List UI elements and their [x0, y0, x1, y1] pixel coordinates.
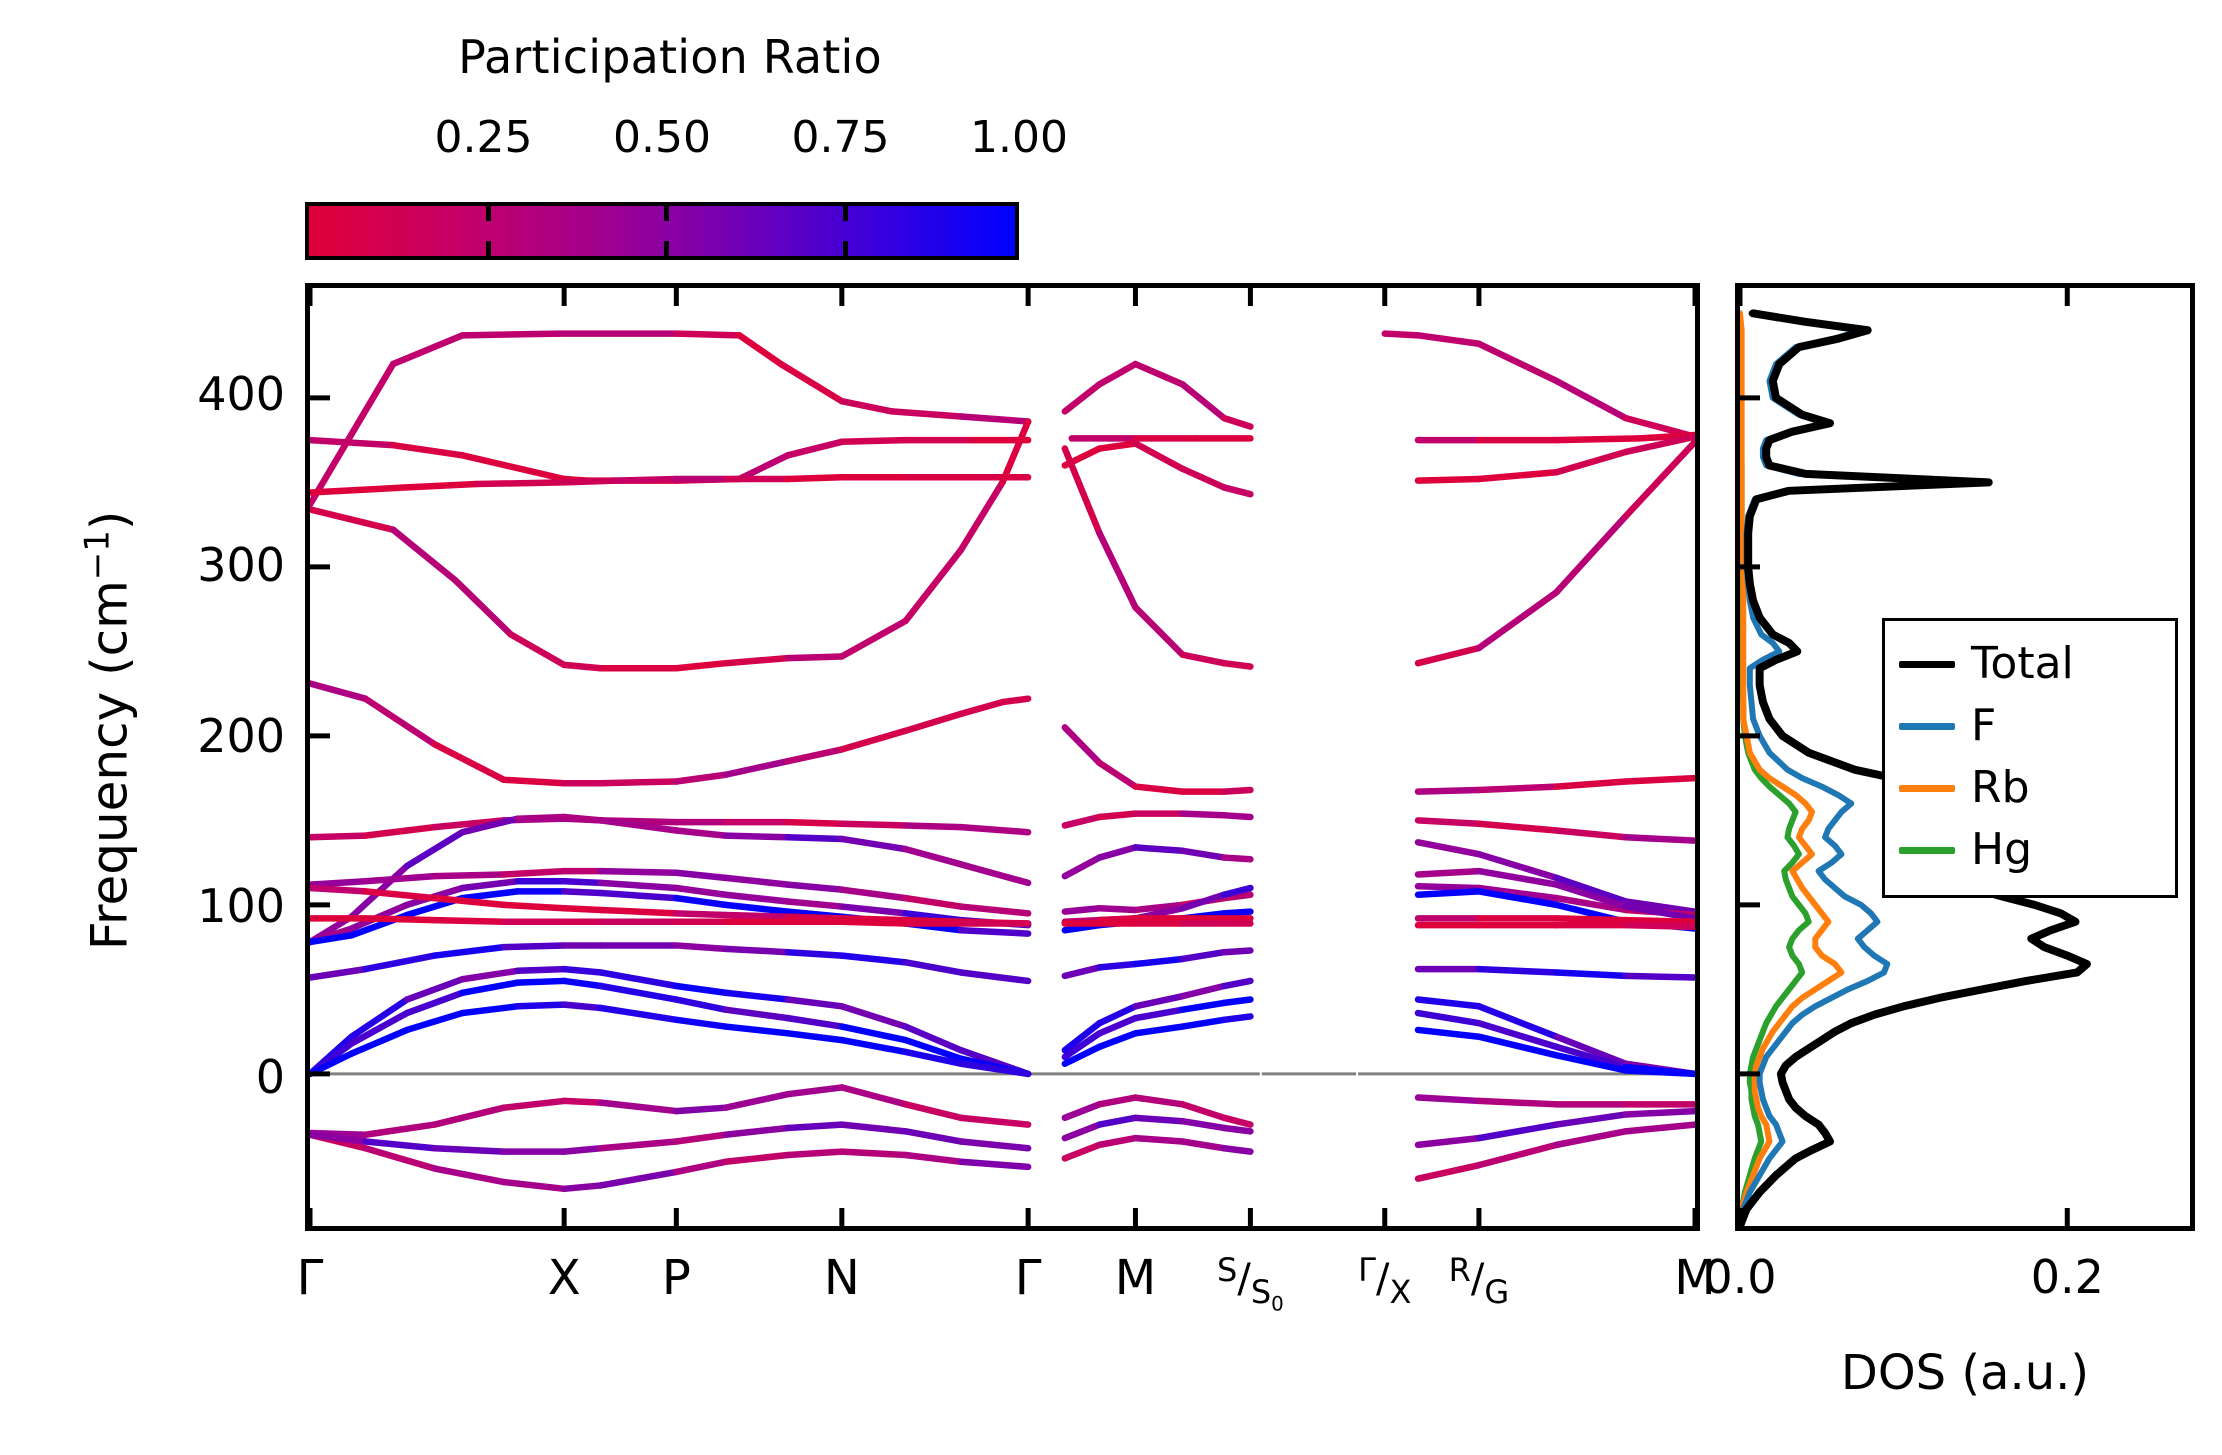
band-segment — [676, 663, 725, 668]
band-segment — [462, 455, 564, 479]
band-segment — [455, 580, 510, 634]
band-x-tick-2: P — [662, 1250, 691, 1306]
band-segment — [1557, 452, 1626, 472]
band-segment — [1183, 1104, 1225, 1118]
band-segment — [393, 335, 462, 364]
band-segment — [601, 986, 676, 1000]
y-axis-tick-labels: 0100200300400 — [110, 283, 285, 1231]
band-segment — [310, 836, 365, 838]
band-segment — [842, 1027, 906, 1041]
band-segment — [906, 825, 961, 827]
band-segment — [601, 910, 676, 913]
band-segment — [1557, 972, 1626, 975]
band-segment — [504, 1182, 564, 1189]
band-segment — [1183, 1020, 1225, 1027]
band-segment — [601, 972, 676, 986]
band-segment — [1135, 787, 1182, 792]
band-segment — [518, 981, 564, 983]
colorbar-tick-labels: 0.250.500.751.00 — [300, 112, 1040, 172]
band-segment — [1418, 886, 1479, 888]
band-segment — [961, 1118, 1028, 1125]
band-lines — [310, 334, 1695, 1189]
band-segment — [906, 550, 961, 621]
band-segment — [1224, 1016, 1250, 1019]
band-segment — [310, 969, 365, 977]
band-segment — [564, 665, 601, 668]
band-segment — [1418, 842, 1479, 854]
band-segment — [842, 401, 892, 411]
band-segment — [676, 898, 725, 905]
band-segment — [842, 621, 906, 656]
band-segment — [1224, 418, 1250, 426]
band-segment — [1065, 858, 1100, 877]
band-segment — [726, 949, 788, 952]
band-segment — [788, 477, 842, 479]
band-segment — [504, 871, 564, 874]
band-segment — [564, 1185, 601, 1188]
band-segment — [1224, 912, 1250, 914]
band-segment — [906, 849, 961, 864]
band-segment — [788, 1033, 842, 1040]
band-segment — [601, 893, 676, 898]
band-segment — [365, 699, 434, 745]
band-segment — [1065, 1125, 1100, 1139]
band-segment — [1183, 1141, 1225, 1148]
band-segment — [677, 334, 739, 336]
band-segment — [1224, 1118, 1250, 1125]
band-segment — [739, 455, 787, 479]
band-x-tick-3: N — [824, 1250, 860, 1306]
band-segment — [1557, 918, 1626, 920]
band-segment — [726, 1155, 788, 1162]
y-tick-label-0: 0 — [256, 1050, 285, 1104]
band-segment — [462, 971, 517, 979]
band-segment — [504, 905, 564, 908]
band-segment — [601, 871, 676, 873]
band-segment — [788, 1087, 842, 1094]
band-segment — [564, 1101, 601, 1103]
band-segment — [961, 864, 1028, 883]
band-segment — [1557, 1131, 1626, 1145]
band-segment — [1065, 967, 1100, 975]
band-segment — [1135, 364, 1182, 384]
band-segment — [310, 881, 365, 884]
band-segment — [676, 831, 725, 836]
phonon-band-dos-figure: Participation Ratio 0.250.500.751.00 Fre… — [0, 0, 2222, 1455]
band-segment — [601, 1141, 676, 1148]
legend-label-total: Total — [1971, 642, 2074, 686]
band-segment — [1557, 831, 1626, 838]
band-segment — [601, 883, 676, 888]
band-segment — [842, 824, 906, 826]
band-segment — [1418, 1013, 1479, 1023]
band-segment — [788, 917, 842, 919]
band-segment — [726, 836, 788, 838]
band-segment — [564, 881, 601, 883]
band-segment — [1479, 787, 1557, 790]
band-segment — [1479, 1101, 1557, 1104]
band-segment — [1099, 1118, 1135, 1125]
band-segment — [1626, 1071, 1695, 1074]
band-segment — [676, 986, 725, 993]
band-segment — [906, 898, 961, 906]
band-segment — [1135, 1010, 1182, 1018]
band-segment — [788, 1152, 842, 1155]
band-segment — [407, 1013, 462, 1030]
band-segment — [407, 832, 462, 866]
band-segment — [435, 744, 504, 779]
band-segment — [365, 1125, 434, 1135]
band-segment — [726, 878, 788, 885]
band-segment — [892, 411, 961, 416]
band-segment — [788, 442, 842, 456]
band-structure-plot — [310, 288, 1695, 1226]
band-segment — [310, 487, 407, 492]
band-segment — [1224, 1128, 1250, 1131]
legend-label-rb: Rb — [1971, 766, 2030, 810]
colorbar-tickmark-0 — [486, 206, 491, 221]
band-segment — [435, 1148, 504, 1151]
band-segment — [1479, 344, 1557, 381]
band-segment — [1065, 1145, 1100, 1159]
band-segment — [1099, 364, 1135, 384]
band-segment — [788, 749, 842, 761]
band-segment — [676, 913, 725, 915]
band-segment — [842, 1087, 906, 1104]
legend-line-swatch-f — [1899, 723, 1955, 730]
band-segment — [462, 1006, 517, 1013]
band-segment — [1418, 1000, 1479, 1007]
band-segment — [1418, 871, 1479, 874]
band-segment — [842, 731, 906, 750]
band-segment — [1418, 1138, 1479, 1145]
band-segment — [906, 1104, 961, 1118]
colorbar-tickmark-2 — [843, 241, 848, 256]
band-segment — [676, 945, 725, 948]
band-segment — [435, 920, 504, 922]
band-segment — [564, 1148, 601, 1151]
panel-break-1 — [1356, 288, 1358, 1226]
band-segment — [1183, 655, 1225, 663]
band-segment — [1418, 820, 1479, 823]
colorbar-title: Participation Ratio — [390, 30, 950, 84]
legend-item-total[interactable]: Total — [1899, 633, 2161, 695]
band-segment — [1626, 920, 1695, 922]
band-segment — [726, 761, 788, 775]
band-segment — [564, 1005, 601, 1008]
band-segment — [1099, 908, 1135, 910]
band-segment — [1479, 824, 1557, 831]
legend-label-f: F — [1971, 704, 1996, 748]
legend-item-hg[interactable]: Hg — [1899, 819, 2161, 881]
panel-break-0 — [1260, 288, 1262, 1226]
band-segment — [842, 839, 906, 849]
band-segment — [906, 714, 961, 731]
band-segment — [676, 873, 725, 878]
band-segment — [1557, 782, 1626, 787]
band-segment — [1183, 851, 1225, 858]
band-segment — [676, 1020, 725, 1027]
band-segment — [1135, 1138, 1182, 1141]
band-segment — [1099, 763, 1135, 787]
band-segment — [462, 983, 517, 993]
band-segment — [601, 782, 676, 784]
band-segment — [739, 335, 781, 364]
band-segment — [462, 891, 517, 898]
band-segment — [1183, 1121, 1225, 1128]
band-segment — [1065, 384, 1100, 411]
band-segment — [1418, 479, 1479, 481]
band-segment — [518, 1005, 564, 1007]
y-tick-label-200: 200 — [197, 709, 285, 763]
colorbar-tick-0: 0.25 — [435, 112, 533, 163]
band-segment — [842, 907, 906, 914]
band-segment — [564, 969, 601, 972]
band-segment — [1135, 1027, 1182, 1034]
band-segment — [601, 1103, 676, 1111]
band-segment — [365, 918, 434, 920]
band-segment — [1099, 533, 1135, 607]
band-segment — [476, 482, 564, 484]
colorbar-tick-2: 0.75 — [792, 112, 890, 163]
band-segment — [393, 530, 455, 581]
band-segment — [393, 445, 462, 455]
band-segment — [1418, 648, 1479, 663]
band-segment — [676, 775, 725, 782]
band-segment — [310, 509, 393, 529]
legend-line-swatch-total — [1899, 661, 1955, 668]
band-segment — [1099, 1098, 1135, 1105]
band-x-tick-7: Γ/X — [1358, 1250, 1411, 1306]
band-segment — [1003, 422, 1029, 483]
band-segment — [788, 1125, 842, 1128]
band-segment — [726, 1128, 788, 1135]
band-segment — [842, 1006, 906, 1026]
band-segment — [365, 876, 434, 881]
band-segment — [1418, 1030, 1479, 1037]
band-segment — [1385, 334, 1418, 336]
band-segment — [726, 905, 788, 912]
band-segment — [961, 827, 1028, 832]
band-segment — [788, 656, 842, 658]
band-segment — [1003, 699, 1029, 702]
band-segment — [462, 881, 517, 888]
band-segment — [564, 817, 601, 820]
kpoint-fraction-label: R/G — [1449, 1256, 1510, 1302]
band-segment — [961, 930, 1028, 933]
band-segment — [906, 1131, 961, 1141]
band-segment — [1418, 335, 1479, 343]
band-segment — [1479, 1125, 1557, 1139]
band-x-tick-5: M — [1115, 1250, 1156, 1306]
band-x-tick-4: Γ — [1015, 1250, 1042, 1306]
band-segment — [1099, 918, 1135, 920]
band-segment — [961, 482, 1003, 550]
band-segment — [1224, 663, 1250, 666]
band-structure-panel[interactable] — [305, 283, 1700, 1231]
band-x-tick-1: X — [548, 1250, 581, 1306]
band-segment — [1224, 1000, 1250, 1003]
band-segment — [961, 972, 1028, 980]
band-segment — [615, 479, 677, 481]
band-segment — [1135, 847, 1182, 850]
band-segment — [511, 634, 564, 664]
legend-item-f[interactable]: F — [1899, 695, 2161, 757]
dos-x-tick-label-0: 0.0 — [1703, 1250, 1776, 1304]
colorbar-tickmark-1 — [664, 241, 669, 256]
band-segment — [1135, 1098, 1182, 1105]
band-segment — [365, 827, 434, 835]
band-x-tick-8: R/G — [1449, 1250, 1510, 1306]
band-segment — [1557, 381, 1626, 418]
band-segment — [1065, 449, 1100, 534]
band-segment — [726, 895, 788, 902]
band-segment — [504, 780, 564, 783]
colorbar-tickmark-1 — [664, 206, 669, 221]
legend-label-hg: Hg — [1971, 828, 2032, 872]
band-segment — [676, 1135, 725, 1142]
band-segment — [842, 890, 906, 898]
band-x-tickmarks — [310, 288, 1695, 1226]
band-segment — [1183, 986, 1225, 996]
band-segment — [1135, 443, 1182, 468]
colorbar-tickmark-0 — [486, 241, 491, 256]
band-segment — [1418, 790, 1479, 792]
band-segment — [1626, 837, 1695, 840]
band-segment — [1099, 964, 1135, 967]
band-segment — [1224, 815, 1250, 817]
band-segment — [1135, 996, 1182, 1006]
band-segment — [564, 891, 601, 893]
legend-line-swatch-rb — [1899, 785, 1955, 792]
band-segment — [310, 888, 365, 891]
band-segment — [1135, 1118, 1182, 1121]
band-segment — [842, 440, 906, 442]
band-segment — [504, 945, 564, 947]
band-x-tick-6: S/S0 — [1217, 1250, 1284, 1306]
band-segment — [1183, 384, 1225, 418]
band-segment — [310, 440, 393, 445]
kpoint-fraction-label: Γ/X — [1358, 1256, 1411, 1302]
band-segment — [1065, 817, 1100, 825]
band-segment — [1479, 1145, 1557, 1165]
band-segment — [310, 683, 365, 698]
band-segment — [676, 888, 725, 895]
band-segment — [788, 822, 842, 824]
band-segment — [781, 364, 842, 401]
band-segment — [906, 962, 961, 972]
band-segment — [1224, 487, 1250, 494]
band-segment — [1479, 969, 1557, 972]
band-segment — [1557, 1114, 1626, 1124]
band-segment — [676, 1000, 725, 1010]
band-segment — [1135, 959, 1182, 964]
band-segment — [788, 837, 842, 839]
band-segment — [1418, 1165, 1479, 1179]
colorbar-tick-3: 1.00 — [970, 112, 1068, 163]
kpoint-fraction-label: S/S0 — [1217, 1256, 1284, 1304]
dos-x-axis-label: DOS (a.u.) — [1735, 1345, 2195, 1401]
band-segment — [726, 658, 788, 663]
band-segment — [365, 1148, 434, 1168]
band-segment — [1626, 1111, 1695, 1114]
band-segment — [1099, 1033, 1135, 1047]
band-x-tick-0: Γ — [297, 1250, 324, 1306]
band-segment — [788, 952, 842, 955]
band-segment — [1479, 472, 1557, 479]
colorbar-tickmark-2 — [843, 206, 848, 221]
band-segment — [1479, 592, 1557, 648]
band-segment — [726, 993, 788, 1000]
band-segment — [1183, 469, 1225, 488]
band-segment — [1418, 1098, 1479, 1101]
band-segment — [788, 1000, 842, 1007]
y-tick-label-300: 300 — [197, 538, 285, 592]
band-segment — [726, 1027, 788, 1034]
band-segment — [1224, 981, 1250, 986]
band-x-axis-tick-labels: ΓXPNΓMS/S0Γ/XR/GM — [305, 1250, 1700, 1360]
band-segment — [842, 1125, 906, 1132]
band-segment — [365, 956, 434, 970]
colorbar-tick-1: 0.50 — [613, 112, 711, 163]
band-segment — [961, 907, 1028, 914]
band-segment — [1065, 908, 1100, 911]
band-segment — [462, 334, 559, 336]
band-segment — [961, 1141, 1028, 1148]
band-segment — [1626, 976, 1695, 978]
band-segment — [842, 956, 906, 963]
band-segment — [1099, 443, 1135, 448]
legend-item-rb[interactable]: Rb — [1899, 757, 2161, 819]
band-segment — [407, 484, 476, 487]
band-segment — [1099, 847, 1135, 857]
dos-x-axis-tick-labels: 0.00.2 — [1735, 1250, 2195, 1320]
dos-curve-hg — [1740, 313, 1809, 1226]
band-segment — [1224, 951, 1250, 953]
band-segment — [1135, 607, 1182, 654]
band-segment — [842, 922, 906, 924]
band-segment — [961, 416, 1028, 421]
band-segment — [842, 1040, 906, 1052]
y-tick-label-100: 100 — [197, 879, 285, 933]
band-segment — [1183, 952, 1225, 959]
band-segment — [726, 1010, 788, 1018]
band-segment — [726, 915, 788, 917]
band-segment — [564, 481, 615, 483]
y-tick-label-400: 400 — [197, 367, 285, 421]
band-segment — [1224, 858, 1250, 860]
band-segment — [1183, 1003, 1225, 1010]
band-segment — [842, 1152, 906, 1155]
band-segment — [310, 364, 393, 504]
band-segment — [435, 947, 504, 955]
band-segment — [435, 1169, 504, 1183]
band-segment — [1065, 1104, 1100, 1118]
band-segment — [1626, 1125, 1695, 1132]
band-segment — [564, 908, 601, 910]
dos-legend: TotalFRbHg — [1882, 618, 2178, 898]
legend-line-swatch-hg — [1899, 847, 1955, 854]
band-segment — [906, 1155, 961, 1162]
band-segment — [676, 1162, 725, 1172]
band-segment — [1224, 1148, 1250, 1151]
band-segment — [601, 1008, 676, 1020]
band-segment — [518, 817, 564, 819]
band-segment — [504, 1101, 564, 1108]
band-segment — [788, 885, 842, 890]
band-segment — [365, 1141, 434, 1148]
band-segment — [1065, 727, 1100, 762]
